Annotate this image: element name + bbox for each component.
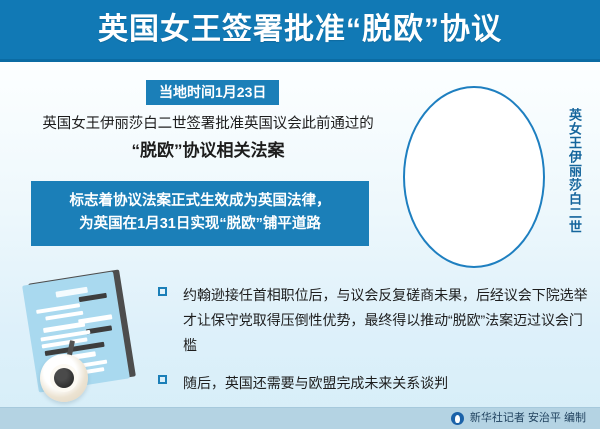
footer-credit: 新华社记者 安治平 编制: [470, 413, 586, 424]
lead-line-1: 英国女王伊丽莎白二世签署批准英国议会此前通过的: [22, 113, 394, 135]
lead-line-2: “脱欧”协议相关法案: [22, 138, 394, 164]
bullet-list: 约翰逊接任首相职位后，与议会反复磋商未果，后经议会下院选举才让保守党取得压倒性优…: [158, 283, 590, 409]
list-item-text: 约翰逊接任首相职位后，与议会反复磋商未果，后经议会下院选举才让保守党取得压倒性优…: [183, 287, 588, 353]
footer-bar: 新华社记者 安治平 编制: [0, 407, 600, 429]
doc-heading-bar: [79, 293, 107, 302]
square-bullet-icon: [158, 375, 167, 384]
list-item: 随后，英国还需要与欧盟完成未来关系谈判: [158, 371, 590, 396]
emphasis-box: 标志着协议法案正式生效成为英国法律， 为英国在1月31日实现“脱欧”铺平道路: [31, 181, 369, 246]
queen-portrait: [403, 86, 545, 268]
header-banner: 英国女王签署批准“脱欧”协议: [0, 0, 600, 62]
document-illustration: [14, 272, 164, 400]
emphasis-line-2: 为英国在1月31日实现“脱欧”铺平道路: [31, 213, 369, 236]
page-title: 英国女王签署批准“脱欧”协议: [98, 15, 502, 45]
square-bullet-icon: [158, 287, 167, 296]
coffee-liquid: [54, 368, 74, 388]
portrait-ring-frame: [403, 86, 545, 268]
infographic-poster: 英国女王签署批准“脱欧”协议 当地时间1月23日 英国女王伊丽莎白二世签署批准英…: [0, 0, 600, 429]
emphasis-line-1: 标志着协议法案正式生效成为英国法律，: [31, 190, 369, 213]
xinhua-logo-icon: [451, 412, 464, 425]
list-item-text: 随后，英国还需要与欧盟完成未来关系谈判: [183, 375, 448, 391]
lead-paragraph: 英国女王伊丽莎白二世签署批准英国议会此前通过的 “脱欧”协议相关法案: [22, 113, 394, 164]
date-badge: 当地时间1月23日: [146, 80, 279, 105]
list-item: 约翰逊接任首相职位后，与议会反复磋商未果，后经议会下院选举才让保守党取得压倒性优…: [158, 283, 590, 358]
portrait-caption: 英女王伊丽莎白二世: [560, 108, 582, 234]
